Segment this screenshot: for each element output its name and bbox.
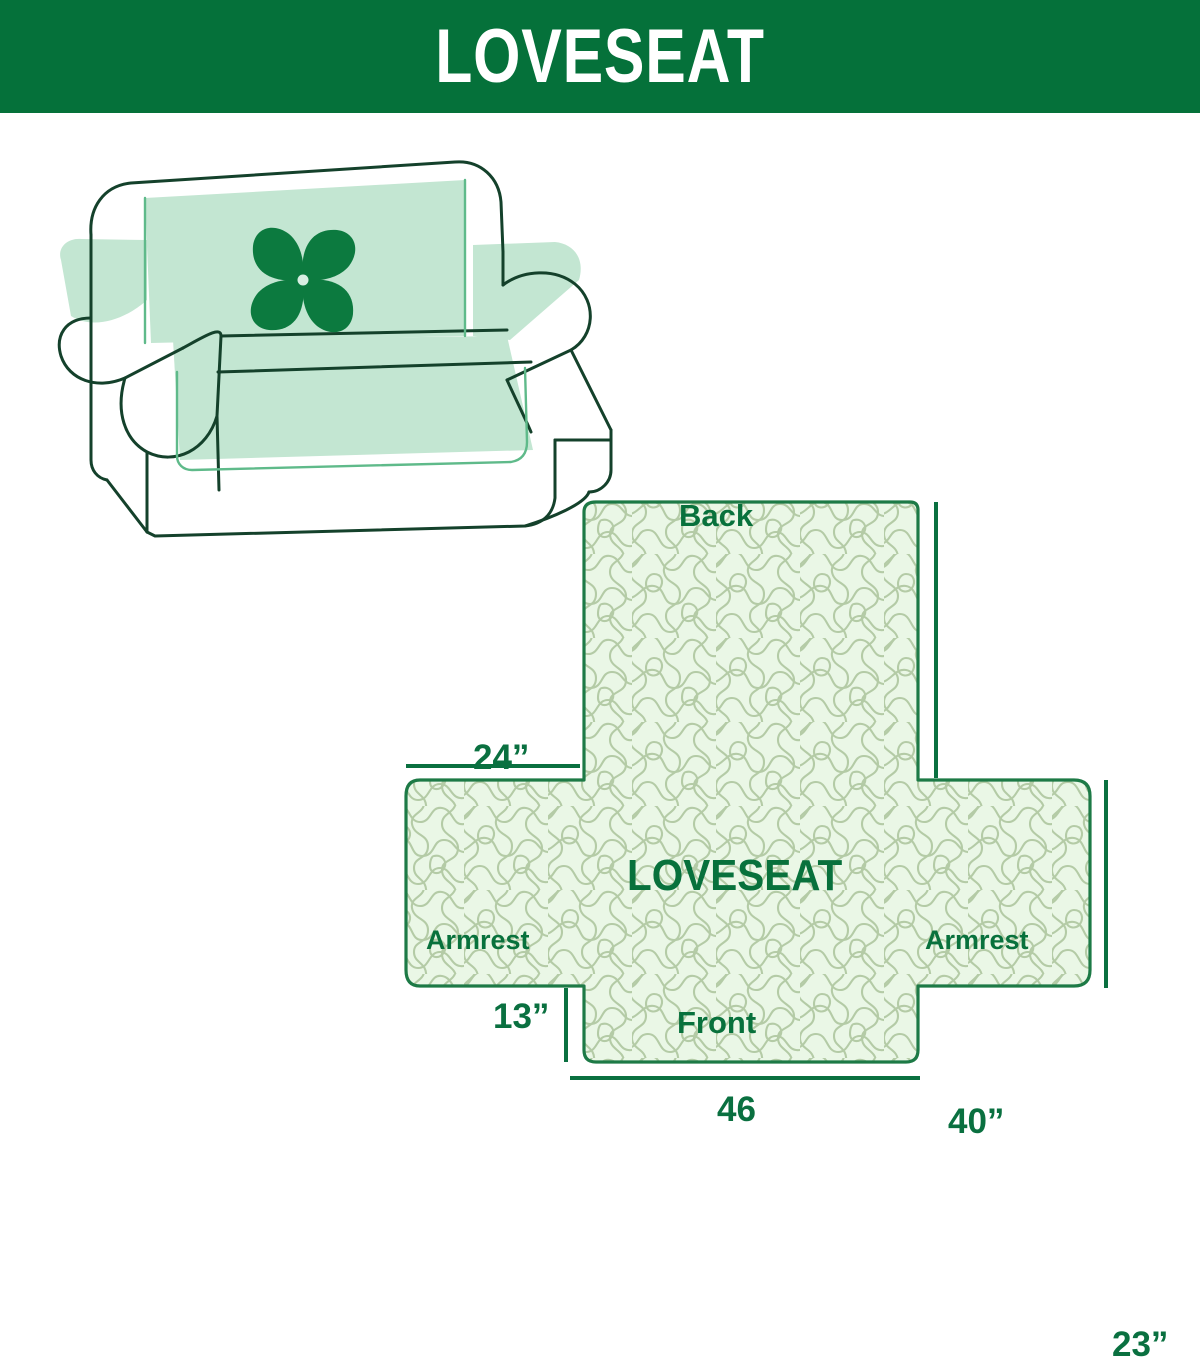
left-arm-inner-edge: [217, 416, 219, 490]
cover-cross-outline: [406, 502, 1090, 1062]
panel-label-front: Front: [677, 1005, 756, 1041]
cover-seat-fill: [173, 336, 533, 460]
dimension-seat-depth: 23”: [1112, 1325, 1168, 1365]
cover-right-armrest-fill: [473, 242, 581, 340]
panel-label-armrest-right: Armrest: [925, 925, 1029, 956]
base-left-side: [91, 318, 107, 480]
panel-label-center: LOVESEAT: [627, 851, 842, 901]
cover-pattern-diagram: Back LOVESEAT Armrest Armrest Front 40” …: [380, 470, 1200, 1130]
dimension-front-height: 13”: [493, 997, 549, 1037]
dimension-armrest-width: 24”: [473, 738, 529, 778]
base-left-diag: [107, 480, 147, 532]
header-banner: LOVESEAT: [0, 0, 1200, 113]
dimension-back-height: 40”: [948, 1102, 1004, 1142]
page-root: LOVESEAT: [0, 0, 1200, 1200]
right-arm-outer-edge: [571, 350, 611, 430]
dimension-total-width: 46: [717, 1090, 756, 1130]
panel-label-back: Back: [679, 498, 753, 534]
cover-left-armrest-fill: [60, 239, 147, 323]
page-title: LOVESEAT: [435, 19, 765, 95]
panel-label-armrest-left: Armrest: [426, 925, 530, 956]
